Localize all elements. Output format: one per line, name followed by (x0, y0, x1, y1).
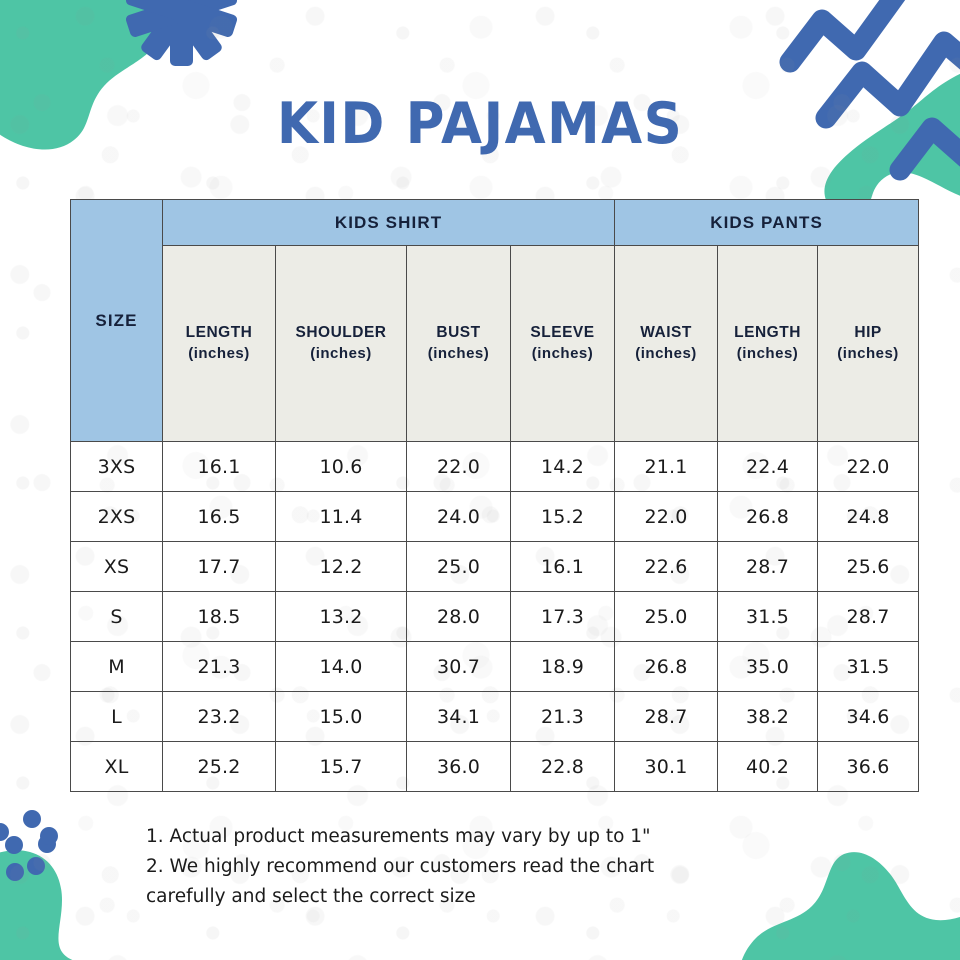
measurement-cell: 31.5 (718, 592, 818, 642)
measurement-cell: 30.1 (615, 742, 718, 792)
measurement-cell: 24.8 (818, 492, 919, 542)
notes-block: 1. Actual product measurements may vary … (146, 822, 786, 912)
measurement-cell: 22.6 (615, 542, 718, 592)
measurement-cell: 21.3 (163, 642, 276, 692)
measurement-cell: 10.6 (276, 442, 407, 492)
size-label-cell: S (71, 592, 163, 642)
column-header-shirt-shoulder: SHOULDER (inches) (276, 246, 407, 442)
column-header-unit: (inches) (407, 344, 510, 364)
measurement-cell: 18.5 (163, 592, 276, 642)
column-header-unit: (inches) (718, 344, 817, 364)
column-header-row: LENGTH (inches) SHOULDER (inches) BUST (… (71, 246, 919, 442)
measurement-cell: 26.8 (615, 642, 718, 692)
column-header-pants-waist: WAIST (inches) (615, 246, 718, 442)
measurement-cell: 26.8 (718, 492, 818, 542)
measurement-cell: 25.2 (163, 742, 276, 792)
measurement-cell: 28.7 (818, 592, 919, 642)
measurement-cell: 18.9 (511, 642, 615, 692)
table-row: XL25.215.736.022.830.140.236.6 (71, 742, 919, 792)
note-line-3: carefully and select the correct size (146, 882, 786, 912)
size-label-cell: M (71, 642, 163, 692)
measurement-cell: 16.1 (163, 442, 276, 492)
measurement-cell: 23.2 (163, 692, 276, 742)
column-header-name: LENGTH (718, 323, 817, 344)
column-header-unit: (inches) (276, 344, 406, 364)
measurement-cell: 30.7 (407, 642, 511, 692)
column-header-unit: (inches) (818, 344, 918, 364)
measurement-cell: 25.6 (818, 542, 919, 592)
size-chart-container: SIZE KIDS SHIRT KIDS PANTS LENGTH (inche… (70, 199, 918, 792)
measurement-cell: 25.0 (407, 542, 511, 592)
measurement-cell: 17.3 (511, 592, 615, 642)
note-line-2: 2. We highly recommend our customers rea… (146, 852, 786, 882)
column-header-name: HIP (818, 323, 918, 344)
measurement-cell: 28.0 (407, 592, 511, 642)
measurement-cell: 15.7 (276, 742, 407, 792)
size-label-cell: 3XS (71, 442, 163, 492)
column-header-unit: (inches) (615, 344, 717, 364)
measurement-cell: 36.0 (407, 742, 511, 792)
measurement-cell: 22.4 (718, 442, 818, 492)
measurement-cell: 14.0 (276, 642, 407, 692)
column-header-pants-hip: HIP (inches) (818, 246, 919, 442)
measurement-cell: 14.2 (511, 442, 615, 492)
measurement-cell: 22.0 (818, 442, 919, 492)
table-row: L23.215.034.121.328.738.234.6 (71, 692, 919, 742)
size-chart-table: SIZE KIDS SHIRT KIDS PANTS LENGTH (inche… (70, 199, 919, 792)
size-label-cell: 2XS (71, 492, 163, 542)
measurement-cell: 16.1 (511, 542, 615, 592)
measurement-cell: 25.0 (615, 592, 718, 642)
column-header-name: LENGTH (163, 323, 275, 344)
table-row: 2XS16.511.424.015.222.026.824.8 (71, 492, 919, 542)
measurement-cell: 24.0 (407, 492, 511, 542)
measurement-cell: 16.5 (163, 492, 276, 542)
table-row: M21.314.030.718.926.835.031.5 (71, 642, 919, 692)
column-header-shirt-length: LENGTH (inches) (163, 246, 276, 442)
measurement-cell: 34.1 (407, 692, 511, 742)
measurement-cell: 28.7 (718, 542, 818, 592)
measurement-cell: 13.2 (276, 592, 407, 642)
table-body: 3XS16.110.622.014.221.122.422.02XS16.511… (71, 442, 919, 792)
measurement-cell: 35.0 (718, 642, 818, 692)
size-column-header: SIZE (71, 200, 163, 442)
table-row: XS17.712.225.016.122.628.725.6 (71, 542, 919, 592)
measurement-cell: 21.3 (511, 692, 615, 742)
column-header-name: SHOULDER (276, 323, 406, 344)
measurement-cell: 34.6 (818, 692, 919, 742)
measurement-cell: 12.2 (276, 542, 407, 592)
measurement-cell: 40.2 (718, 742, 818, 792)
group-header-kids-pants: KIDS PANTS (615, 200, 919, 246)
size-label-cell: L (71, 692, 163, 742)
table-row: 3XS16.110.622.014.221.122.422.0 (71, 442, 919, 492)
measurement-cell: 22.0 (615, 492, 718, 542)
size-label-cell: XL (71, 742, 163, 792)
measurement-cell: 36.6 (818, 742, 919, 792)
measurement-cell: 22.8 (511, 742, 615, 792)
column-header-shirt-sleeve: SLEEVE (inches) (511, 246, 615, 442)
page-title: KID PAJAMAS (34, 96, 927, 153)
measurement-cell: 28.7 (615, 692, 718, 742)
column-header-pants-length: LENGTH (inches) (718, 246, 818, 442)
column-header-name: SLEEVE (511, 323, 614, 344)
column-header-unit: (inches) (511, 344, 614, 364)
group-header-kids-shirt: KIDS SHIRT (163, 200, 615, 246)
measurement-cell: 17.7 (163, 542, 276, 592)
measurement-cell: 11.4 (276, 492, 407, 542)
table-head: SIZE KIDS SHIRT KIDS PANTS LENGTH (inche… (71, 200, 919, 442)
measurement-cell: 15.0 (276, 692, 407, 742)
column-header-name: WAIST (615, 323, 717, 344)
measurement-cell: 38.2 (718, 692, 818, 742)
group-header-row: SIZE KIDS SHIRT KIDS PANTS (71, 200, 919, 246)
column-header-unit: (inches) (163, 344, 275, 364)
measurement-cell: 21.1 (615, 442, 718, 492)
table-row: S18.513.228.017.325.031.528.7 (71, 592, 919, 642)
measurement-cell: 22.0 (407, 442, 511, 492)
measurement-cell: 31.5 (818, 642, 919, 692)
measurement-cell: 15.2 (511, 492, 615, 542)
column-header-shirt-bust: BUST (inches) (407, 246, 511, 442)
size-label-cell: XS (71, 542, 163, 592)
note-line-1: 1. Actual product measurements may vary … (146, 822, 786, 852)
column-header-name: BUST (407, 323, 510, 344)
